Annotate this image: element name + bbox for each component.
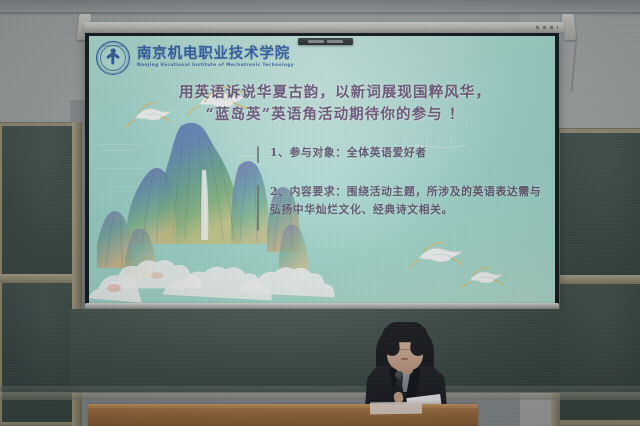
- projector-screen-case: [84, 22, 564, 33]
- crane-icon: [461, 262, 507, 294]
- warm-accent: [107, 284, 121, 292]
- slide-point-item: 2、内容要求：围绕活动主题，所涉及的英语表达需与弘扬中华灿烂文化、经典诗文相关。: [257, 183, 547, 218]
- microphone-head: [395, 371, 403, 379]
- point-accent-bar: [257, 146, 259, 163]
- point-accent-bar: [257, 185, 259, 231]
- slide-point-item: 1、参与对象：全体英语爱好者: [257, 144, 547, 161]
- headline-line-1: 用英语诉说华夏古韵，以新词展现国粹风华，: [179, 84, 491, 101]
- slide-headline: 用英语诉说华夏古韵，以新词展现国粹风华， “蓝岛英”英语角活动期待你的参与 ！: [125, 82, 545, 127]
- point-text: 2、内容要求：围绕活动主题，所涉及的英语表达需与弘扬中华灿烂文化、经典诗文相关。: [270, 183, 547, 218]
- case-vent-dots: [536, 26, 558, 29]
- mist-streak: [109, 186, 147, 187]
- control-bar-segment[interactable]: [308, 40, 324, 43]
- presenter-hair-side-left: [382, 325, 401, 356]
- school-name-en: Nanjing Vocational Institute of Mechatro…: [137, 64, 294, 68]
- blackboard-center: [70, 309, 560, 393]
- headline-line-2: “蓝岛英”英语角活动期待你的参与 ！: [125, 104, 545, 126]
- presentation-control-bar[interactable]: [298, 38, 353, 45]
- chalk-ledge: [0, 392, 640, 400]
- crane-icon: [407, 236, 469, 276]
- blackboard-right-panel-top: [557, 133, 640, 275]
- classroom-scene: 南京机电职业技术学院 Nanjing Vocational Institute …: [0, 0, 640, 426]
- blackboard-sheen: [2, 283, 78, 422]
- blackboard-right-rail: [553, 275, 640, 284]
- blackboard-left-panel-bottom: [2, 283, 78, 422]
- mist-streak: [93, 168, 145, 169]
- warm-accent: [151, 272, 163, 279]
- projection-screen[interactable]: 南京机电职业技术学院 Nanjing Vocational Institute …: [85, 33, 559, 305]
- mist-streak: [103, 150, 133, 151]
- blackboard-sheen: [557, 133, 640, 275]
- soffit-shadow: [0, 12, 640, 16]
- presentation-slide[interactable]: 南京机电职业技术学院 Nanjing Vocational Institute …: [89, 36, 555, 303]
- blackboard-left-panel-top: [2, 126, 78, 274]
- slide-points-list: 1、参与对象：全体英语爱好者 2、内容要求：围绕活动主题，所涉及的英语表达需与弘…: [257, 144, 547, 240]
- university-crest-logo: [96, 41, 130, 75]
- blackboard-sheen: [2, 126, 78, 274]
- mist-streak: [97, 144, 141, 145]
- blackboard-left-rail: [0, 274, 80, 283]
- blackboard-right-frame: [551, 128, 640, 426]
- logo-figure: [107, 49, 119, 66]
- podium-paper: [370, 402, 422, 415]
- control-bar-segment[interactable]: [327, 40, 343, 43]
- school-name-cn: 南京机电职业技术学院: [137, 47, 294, 62]
- blackboard-sheen: [70, 309, 560, 393]
- point-text: 1、参与对象：全体英语爱好者: [270, 144, 547, 161]
- school-name-block: 南京机电职业技术学院 Nanjing Vocational Institute …: [137, 47, 294, 68]
